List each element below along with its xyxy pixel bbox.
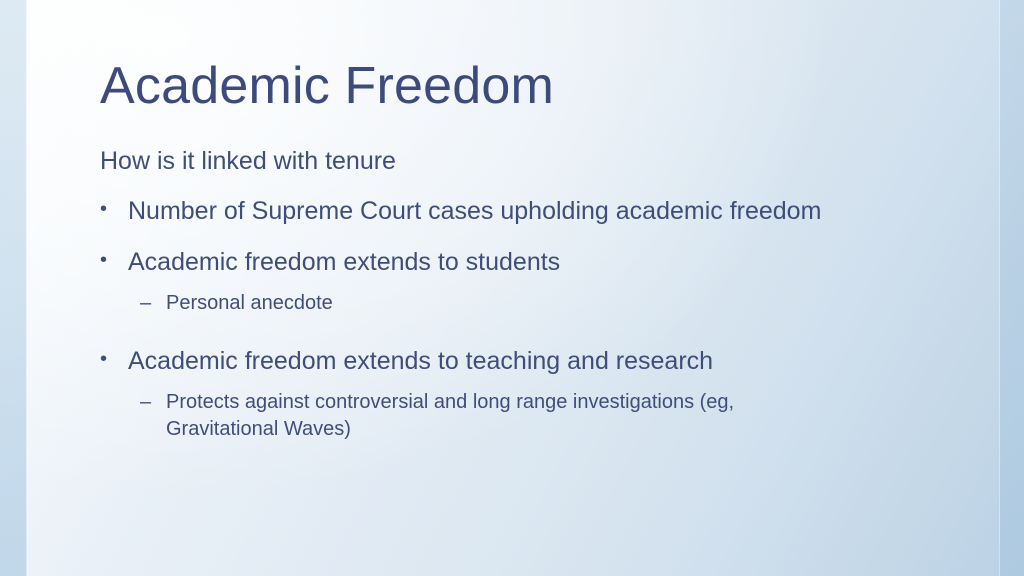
- sub-list-item-label: Personal anecdote: [166, 290, 840, 316]
- spacer: [100, 329, 960, 345]
- bullet-dot-icon: •: [100, 246, 128, 275]
- list-item: • Academic freedom extends to teaching a…: [100, 345, 960, 378]
- list-item: • Number of Supreme Court cases upholdin…: [100, 195, 960, 228]
- bullet-dot-icon: •: [100, 195, 128, 224]
- presentation-slide: Academic Freedom How is it linked with t…: [0, 0, 1024, 576]
- list-item-label: Academic freedom extends to teaching and…: [128, 345, 960, 378]
- bullet-dash-icon: –: [140, 290, 166, 316]
- slide-title: Academic Freedom: [100, 57, 554, 115]
- slide-content: Academic Freedom How is it linked with t…: [0, 0, 1024, 576]
- slide-body: How is it linked with tenure • Number of…: [100, 146, 960, 454]
- list-item-label: Number of Supreme Court cases upholding …: [128, 195, 960, 228]
- list-item: • Academic freedom extends to students: [100, 246, 960, 279]
- list-item-label: Academic freedom extends to students: [128, 246, 960, 279]
- sub-list-item: – Protects against controversial and lon…: [140, 389, 840, 442]
- bullet-dot-icon: •: [100, 345, 128, 374]
- sub-list-item-label: Protects against controversial and long …: [166, 389, 840, 442]
- sub-list-item: – Personal anecdote: [140, 290, 840, 316]
- bullet-dash-icon: –: [140, 389, 166, 415]
- intro-line: How is it linked with tenure: [100, 146, 960, 177]
